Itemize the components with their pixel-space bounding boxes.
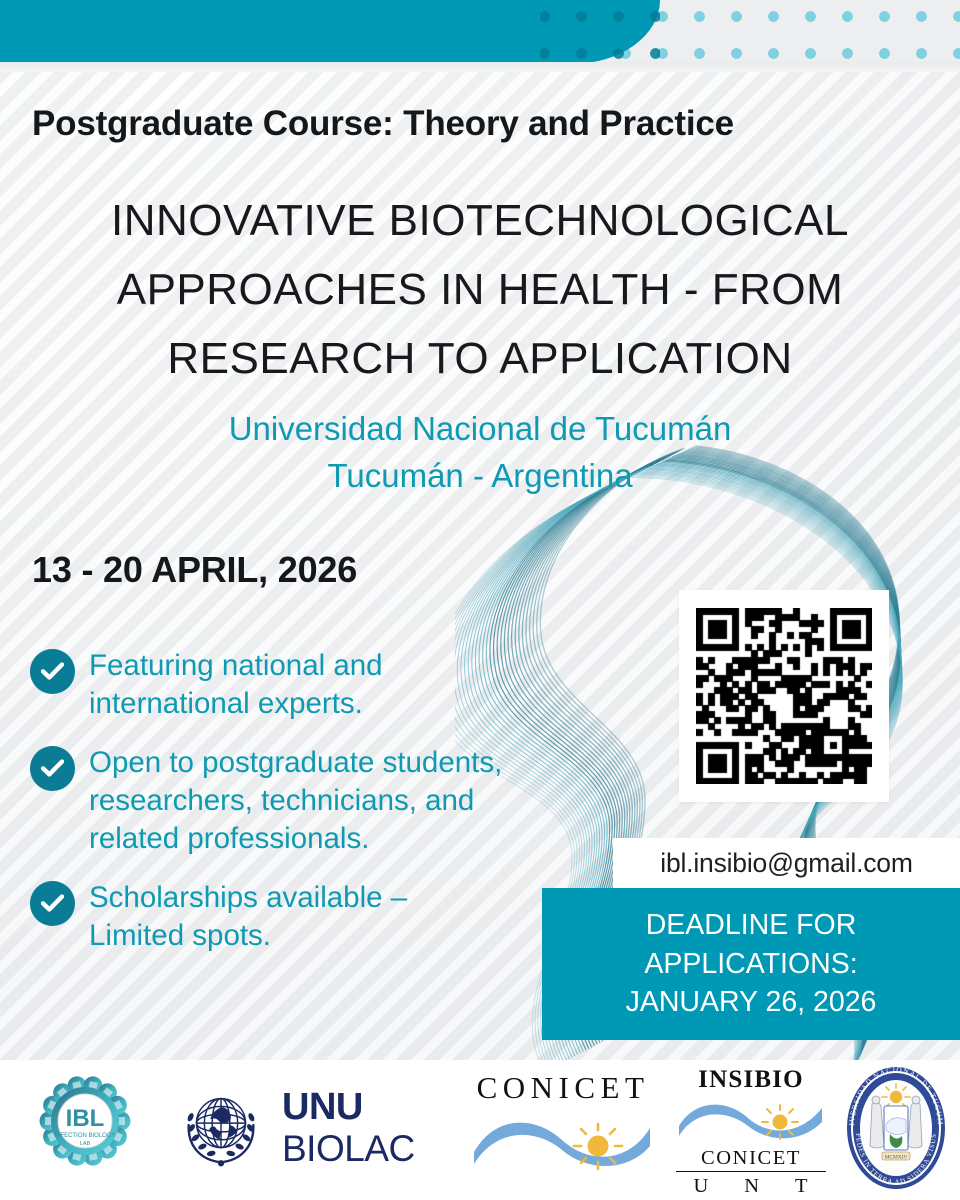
insibio-conicet: CONICET [676, 1147, 826, 1172]
conicet-ribbon-icon [470, 1106, 656, 1172]
venue-line-2: Tucumán - Argentina [30, 453, 930, 500]
unu-line-1: UNU [282, 1088, 415, 1126]
list-item-label: Scholarships available – Limited spots. [89, 877, 510, 956]
check-circle-icon [30, 746, 75, 791]
logo-unu-biolac: UNU BIOLAC [172, 1078, 415, 1176]
insibio-unt: U N T [676, 1175, 826, 1198]
logo-insibio: INSIBIO CONICET U N T [676, 1066, 826, 1198]
list-item: Featuring national and international exp… [30, 645, 510, 724]
deadline-box: DEADLINE FOR APPLICATIONS: JANUARY 26, 2… [542, 888, 960, 1040]
logo-ibl: IBL INFECTION BIOLOGY LAB [30, 1066, 140, 1181]
un-emblem-icon [172, 1078, 270, 1176]
qr-code-icon[interactable] [696, 608, 872, 784]
insibio-unt-u: U [693, 1175, 709, 1198]
list-item: Open to postgraduate students, researche… [30, 742, 510, 859]
venue-line-1: Universidad Nacional de Tucumán [30, 406, 930, 453]
contact-email-box[interactable]: ibl.insibio@gmail.com [613, 838, 960, 888]
deadline-line-1: DEADLINE FOR [646, 906, 857, 944]
header-underline [0, 62, 960, 72]
highlights-list: Featuring national and international exp… [30, 645, 510, 973]
course-kicker: Postgraduate Course: Theory and Practice [32, 104, 932, 144]
title-line-1: INNOVATIVE BIOTECHNOLOGICAL [30, 186, 930, 255]
poster-canvas: Postgraduate Course: Theory and Practice… [0, 0, 960, 1200]
ibl-sub-1: INFECTION BIOLOGY [54, 1133, 115, 1139]
ibl-acronym: IBL [66, 1105, 105, 1132]
logo-conicet: CONICET [470, 1070, 656, 1177]
logo-unt-seal: UNIVERSIDAD NACIONAL DE TUCUMAN PEDES IN… [840, 1064, 952, 1197]
title-line-2: APPROACHES IN HEALTH - FROM [30, 255, 930, 324]
insibio-unt-t: T [795, 1175, 809, 1198]
event-dates: 13 - 20 APRIL, 2026 [32, 549, 357, 591]
teal-dot-overlap [540, 0, 660, 64]
qr-code-card[interactable] [679, 590, 889, 802]
page-title: INNOVATIVE BIOTECHNOLOGICAL APPROACHES I… [30, 186, 930, 393]
list-item-label: Open to postgraduate students, researche… [89, 742, 510, 859]
insibio-ribbon-icon [676, 1094, 826, 1142]
header-band [0, 0, 960, 72]
list-item-label: Featuring national and international exp… [89, 645, 510, 724]
contact-email[interactable]: ibl.insibio@gmail.com [660, 848, 912, 879]
insibio-wordmark: INSIBIO [676, 1066, 826, 1094]
unt-year: MCMXIV [885, 1154, 908, 1160]
title-line-3: RESEARCH TO APPLICATION [30, 324, 930, 393]
conicet-wordmark: CONICET [470, 1070, 656, 1106]
insibio-unt-n: N [744, 1175, 760, 1198]
unu-line-2: BIOLAC [282, 1130, 415, 1167]
deadline-line-2: APPLICATIONS: [644, 945, 857, 983]
list-item: Scholarships available – Limited spots. [30, 877, 510, 956]
deadline-line-3: JANUARY 26, 2026 [626, 983, 877, 1021]
venue-block: Universidad Nacional de Tucumán Tucumán … [30, 406, 930, 500]
check-circle-icon [30, 649, 75, 694]
sun-icon [762, 1105, 798, 1139]
sun-icon [574, 1124, 622, 1169]
check-circle-icon [30, 881, 75, 926]
ibl-sub-2: LAB [80, 1141, 91, 1147]
